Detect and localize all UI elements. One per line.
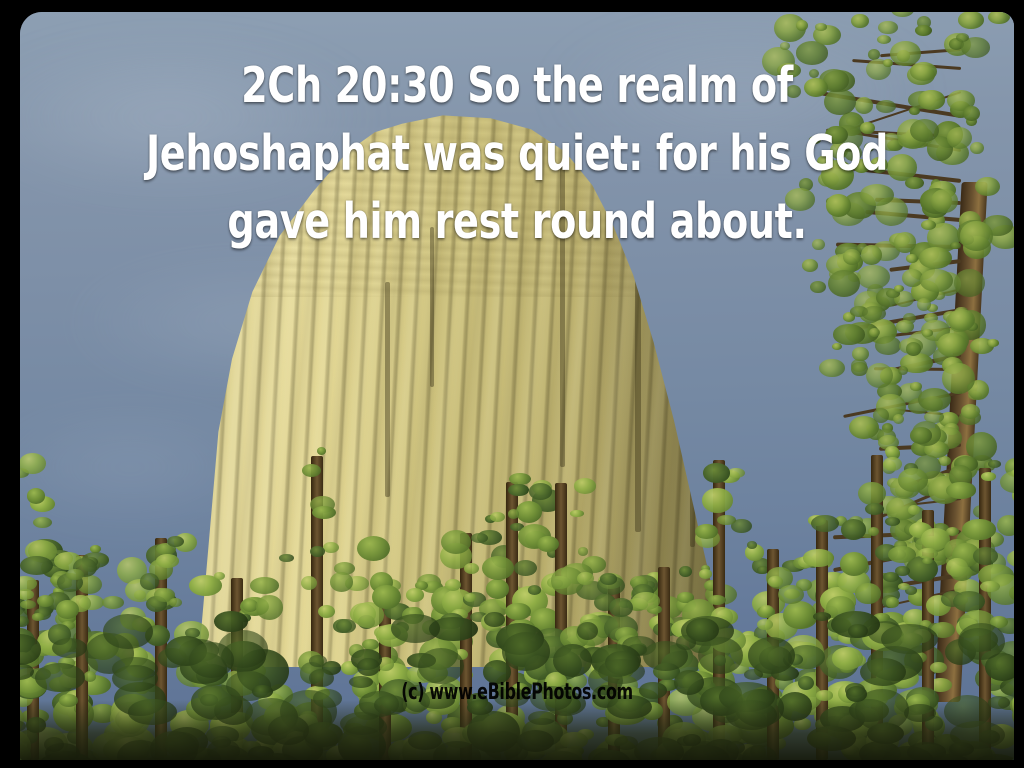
pine-needle-cluster bbox=[918, 388, 951, 412]
foliage-cluster-shadow bbox=[698, 637, 743, 675]
foliage-cluster bbox=[302, 464, 321, 477]
pine-needle-cluster bbox=[918, 90, 945, 109]
pine-needle-cluster bbox=[947, 127, 972, 149]
pine-needle-cluster bbox=[878, 21, 897, 34]
pine-needle-cluster bbox=[931, 189, 958, 213]
foliage-cluster-shadow bbox=[391, 614, 440, 643]
foliage-cluster-shadow bbox=[103, 614, 153, 650]
foliage-cluster bbox=[66, 569, 84, 580]
foliage-cluster-shadow bbox=[484, 612, 505, 626]
foliage-cluster bbox=[32, 613, 44, 620]
pine-needle-cluster bbox=[961, 404, 980, 419]
pine-needle-cluster bbox=[915, 25, 932, 36]
pine-needle-cluster bbox=[796, 20, 808, 31]
pine-needle-cluster bbox=[891, 12, 914, 17]
pine-needle-cluster bbox=[810, 281, 826, 293]
foliage-cluster bbox=[27, 488, 45, 503]
pine-needle-cluster bbox=[954, 269, 984, 297]
watermark-credit: (c) www.eBiblePhotos.com bbox=[159, 680, 875, 705]
photo-frame: 2Ch 20:30 So the realm of Jehoshaphat wa… bbox=[0, 0, 1024, 768]
pine-needle-cluster bbox=[894, 285, 904, 292]
pine-needle-cluster bbox=[898, 366, 908, 375]
foliage-cluster bbox=[156, 554, 179, 567]
foliage-cluster bbox=[537, 536, 559, 552]
foliage-cluster-shadow bbox=[502, 632, 550, 671]
pine-needle-cluster bbox=[852, 347, 868, 362]
pine-needle-cluster bbox=[942, 363, 975, 394]
pine-needle-cluster bbox=[906, 254, 917, 263]
foliage-cluster bbox=[357, 536, 390, 561]
pine-needle-cluster bbox=[910, 382, 921, 391]
pine-needle-cluster bbox=[906, 342, 922, 356]
foliage-cluster bbox=[56, 600, 79, 619]
pine-needle-cluster bbox=[960, 221, 993, 250]
pine-needle-cluster bbox=[857, 265, 889, 289]
pine-needle-cluster bbox=[963, 106, 980, 122]
pine-needle-cluster bbox=[873, 408, 890, 423]
foliage-cluster bbox=[336, 619, 356, 633]
foliage-cluster-shadow bbox=[553, 644, 592, 677]
foliage-cluster-shadow bbox=[577, 622, 598, 640]
pine-needle-cluster bbox=[958, 12, 984, 29]
pine-needle-cluster bbox=[802, 259, 818, 272]
verse-line-2: Jehoshaphat was quiet: for his God bbox=[129, 120, 904, 188]
pine-needle-cluster bbox=[988, 12, 1010, 24]
pine-needle-cluster bbox=[920, 269, 953, 291]
foliage-cluster-shadow bbox=[418, 648, 463, 684]
foliage-cluster-shadow bbox=[35, 663, 85, 692]
pine-needle-cluster bbox=[956, 33, 969, 42]
pine-needle-cluster bbox=[937, 333, 967, 357]
foliage-cluster bbox=[20, 453, 46, 474]
pine-needle-cluster bbox=[893, 414, 904, 424]
pine-needle-cluster bbox=[851, 362, 867, 376]
pine-needle-cluster bbox=[877, 35, 891, 44]
foliage-cluster bbox=[703, 463, 729, 482]
foliage-cluster-shadow bbox=[881, 624, 938, 654]
foliage-cluster-shadow bbox=[686, 618, 719, 643]
foliage-cluster-shadow bbox=[748, 637, 795, 674]
pine-needle-cluster bbox=[950, 242, 961, 249]
forest-floor-shadow bbox=[20, 700, 1014, 760]
pine-needle-cluster bbox=[948, 309, 975, 331]
bible-verse-text: 2Ch 20:30 So the realm of Jehoshaphat wa… bbox=[129, 52, 904, 256]
foliage-cluster-shadow bbox=[848, 624, 868, 638]
pine-needle-cluster bbox=[905, 177, 924, 189]
foliage-cluster bbox=[574, 478, 597, 494]
pine-needle-cluster bbox=[910, 119, 939, 142]
foliage-cluster bbox=[310, 546, 325, 557]
foliage-cluster bbox=[84, 671, 97, 682]
pine-needle-cluster bbox=[832, 343, 842, 350]
foliage-cluster bbox=[312, 506, 336, 519]
pine-needle-cluster bbox=[780, 42, 790, 50]
pine-needle-cluster bbox=[917, 298, 931, 311]
foliage-cluster bbox=[760, 605, 772, 613]
pine-needle-cluster bbox=[919, 247, 952, 269]
pine-needle-cluster bbox=[875, 336, 902, 355]
pine-needle-cluster bbox=[975, 177, 1000, 197]
pine-needle-cluster bbox=[862, 306, 886, 321]
pine-needle-cluster bbox=[851, 14, 869, 28]
pine-needle-cluster bbox=[833, 324, 865, 344]
pine-needle-cluster bbox=[970, 142, 983, 154]
photograph: 2Ch 20:30 So the realm of Jehoshaphat wa… bbox=[20, 12, 1014, 760]
pine-needle-cluster bbox=[828, 270, 860, 297]
foliage-cluster bbox=[279, 554, 294, 562]
foliage-cluster bbox=[885, 446, 899, 458]
pine-needle-cluster bbox=[866, 363, 892, 388]
foliage-cluster-shadow bbox=[357, 658, 380, 676]
pine-needle-cluster bbox=[819, 359, 845, 377]
foliage-cluster bbox=[317, 447, 326, 455]
foliage-cluster bbox=[214, 572, 225, 580]
pine-needle-cluster bbox=[987, 339, 999, 347]
verse-line-1: 2Ch 20:30 So the realm of bbox=[129, 52, 904, 120]
pine-needle-cluster bbox=[896, 320, 914, 333]
verse-line-3: gave him rest round about. bbox=[129, 188, 904, 256]
foliage-cluster bbox=[609, 598, 632, 618]
foliage-cluster bbox=[768, 576, 783, 588]
foliage-cluster-shadow bbox=[189, 642, 234, 678]
foliage-cluster-shadow bbox=[112, 665, 157, 692]
foliage-cluster-shadow bbox=[52, 638, 88, 658]
